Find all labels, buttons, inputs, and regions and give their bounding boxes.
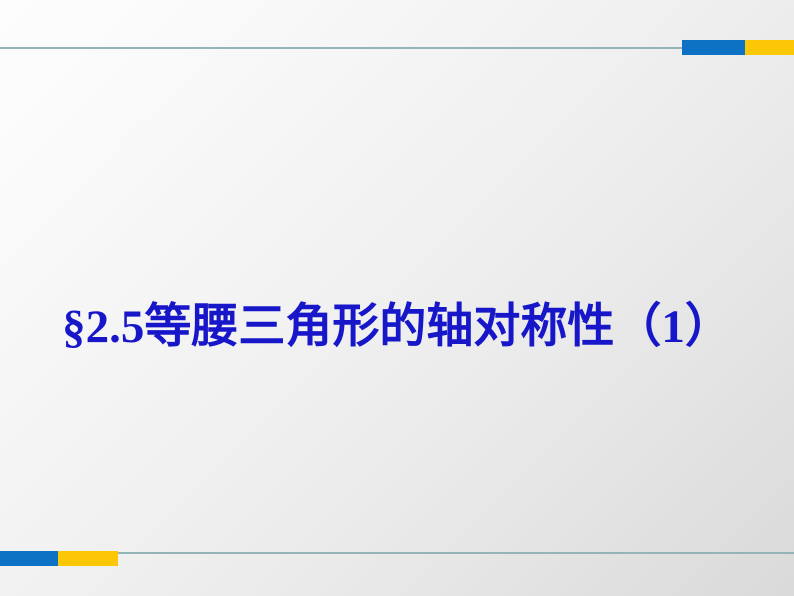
top-blue-accent-bar: [682, 40, 745, 55]
top-decoration-band: [0, 0, 794, 60]
bottom-blue-accent-bar: [0, 551, 58, 566]
top-yellow-accent-bar: [745, 40, 794, 55]
bottom-horizontal-rule: [118, 552, 794, 554]
presentation-slide: §2.5等腰三角形的轴对称性（1）: [0, 0, 794, 596]
title-block: §2.5等腰三角形的轴对称性（1）: [0, 296, 794, 358]
top-horizontal-rule: [0, 47, 683, 49]
slide-title: §2.5等腰三角形的轴对称性（1）: [62, 296, 732, 358]
bottom-yellow-accent-bar: [58, 551, 118, 566]
bottom-decoration-band: [0, 540, 794, 596]
